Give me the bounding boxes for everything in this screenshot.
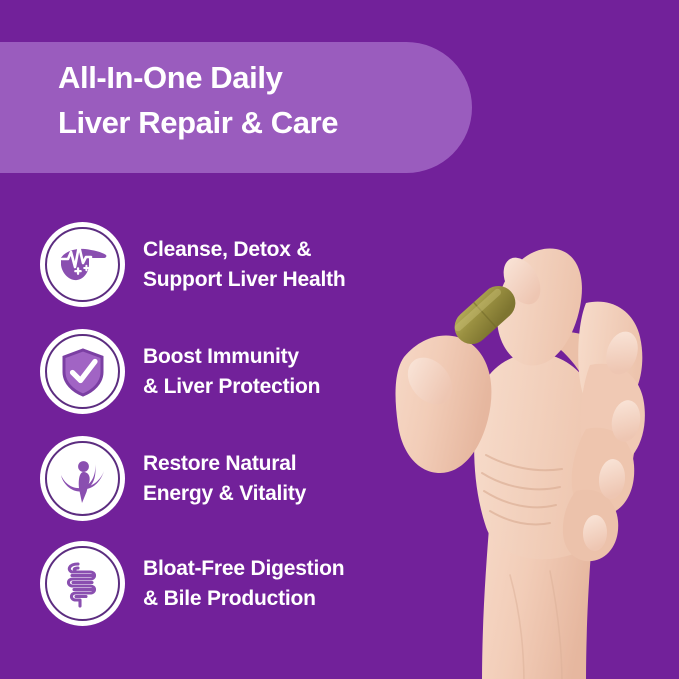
header-title-line-2: Liver Repair & Care bbox=[58, 100, 478, 145]
feature-label-line-1: Bloat-Free Digestion bbox=[143, 554, 344, 584]
feature-label-line-1: Cleanse, Detox & bbox=[143, 235, 346, 265]
feature-item-restore-energy: Restore Natural Energy & Vitality bbox=[40, 436, 306, 521]
feature-label-bloat-free-digestion: Bloat-Free Digestion & Bile Production bbox=[143, 554, 344, 614]
header-title: All-In-One Daily Liver Repair & Care bbox=[58, 55, 478, 145]
feature-item-cleanse-detox: Cleanse, Detox & Support Liver Health bbox=[40, 222, 346, 307]
feature-label-line-2: Support Liver Health bbox=[143, 265, 346, 295]
header-title-line-1: All-In-One Daily bbox=[58, 55, 478, 100]
hand-holding-capsule bbox=[390, 215, 679, 679]
feature-label-line-2: & Bile Production bbox=[143, 584, 344, 614]
feature-label-cleanse-detox: Cleanse, Detox & Support Liver Health bbox=[143, 235, 346, 295]
vitality-figure-icon bbox=[40, 436, 125, 521]
intestine-icon bbox=[40, 541, 125, 626]
feature-label-line-2: Energy & Vitality bbox=[143, 479, 306, 509]
shield-check-icon bbox=[40, 329, 125, 414]
feature-item-bloat-free-digestion: Bloat-Free Digestion & Bile Production bbox=[40, 541, 344, 626]
feature-label-boost-immunity: Boost Immunity & Liver Protection bbox=[143, 342, 320, 402]
feature-label-restore-energy: Restore Natural Energy & Vitality bbox=[143, 449, 306, 509]
product-infographic: All-In-One Daily Liver Repair & Care Cle… bbox=[0, 0, 679, 679]
liver-pulse-icon bbox=[40, 222, 125, 307]
feature-label-line-1: Restore Natural bbox=[143, 449, 306, 479]
feature-label-line-2: & Liver Protection bbox=[143, 372, 320, 402]
feature-label-line-1: Boost Immunity bbox=[143, 342, 320, 372]
feature-item-boost-immunity: Boost Immunity & Liver Protection bbox=[40, 329, 320, 414]
